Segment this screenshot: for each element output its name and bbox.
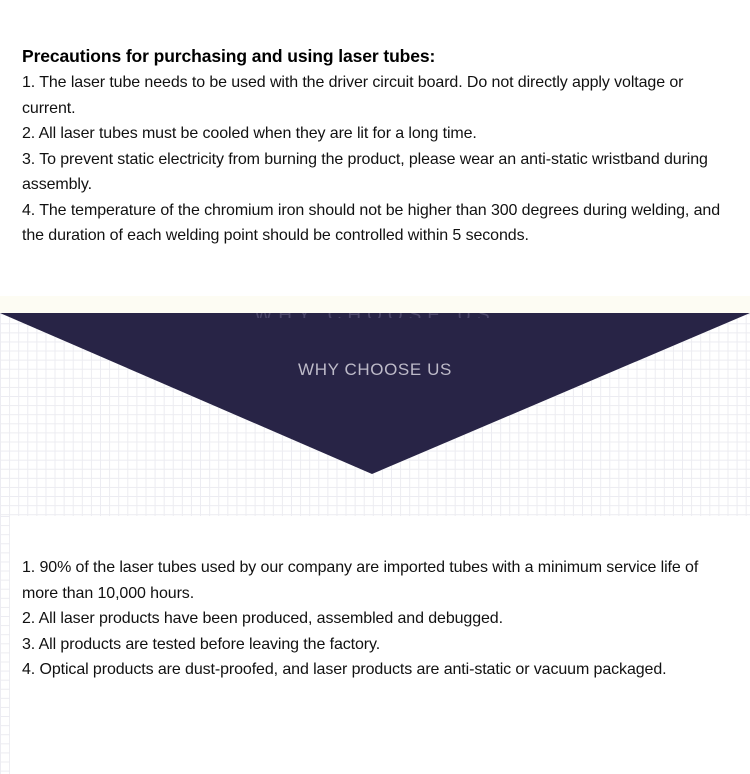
- advantages-item: 1. 90% of the laser tubes used by our co…: [22, 555, 722, 606]
- advantages-section: 1. 90% of the laser tubes used by our co…: [0, 516, 750, 774]
- clipped-heading-text: WHY CHOOSE US: [0, 313, 750, 318]
- advantages-item: 4. Optical products are dust-proofed, an…: [22, 657, 722, 683]
- advantages-list: 1. 90% of the laser tubes used by our co…: [22, 555, 722, 683]
- precautions-item: 1. The laser tube needs to be used with …: [22, 70, 728, 121]
- cream-strip: [0, 296, 750, 313]
- advantages-item: 2. All laser products have been produced…: [22, 606, 722, 632]
- advantages-item: 3. All products are tested before leavin…: [22, 632, 722, 658]
- precautions-list: 1. The laser tube needs to be used with …: [22, 70, 728, 249]
- precautions-item: 3. To prevent static electricity from bu…: [22, 147, 728, 198]
- precautions-title: Precautions for purchasing and using las…: [22, 44, 728, 69]
- banner-heading: WHY CHOOSE US: [0, 360, 750, 380]
- grid-edge-strip: [0, 516, 10, 774]
- precautions-section: Precautions for purchasing and using las…: [0, 0, 750, 296]
- precautions-item: 2. All laser tubes must be cooled when t…: [22, 121, 728, 147]
- why-choose-us-banner: WHY CHOOSE US WHY CHOOSE US: [0, 296, 750, 516]
- precautions-item: 4. The temperature of the chromium iron …: [22, 198, 728, 249]
